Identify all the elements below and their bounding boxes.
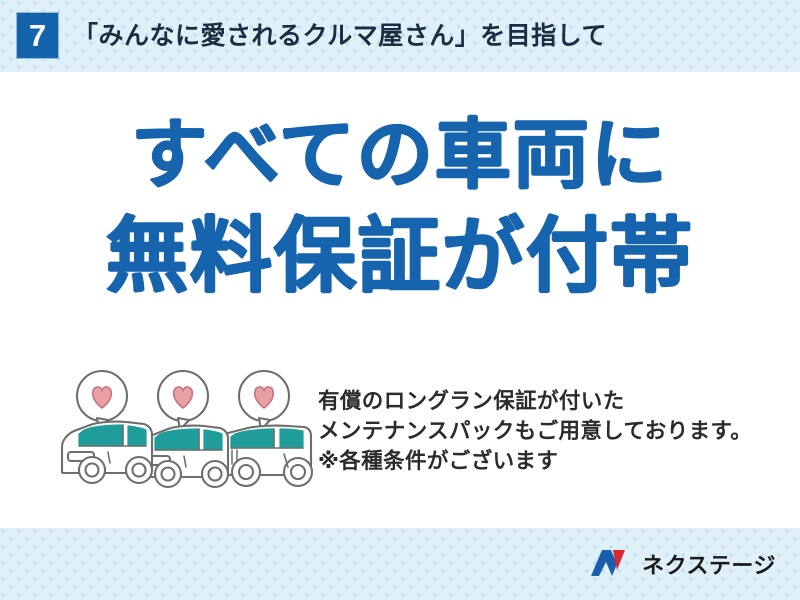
nextage-n-logo-icon: [589, 549, 633, 582]
headline-line-1: すべての車両に: [0, 118, 800, 194]
header-badge-number: 7: [16, 12, 59, 59]
heart-bubble-right: [239, 371, 289, 430]
brand-logo: ネクステージ: [589, 549, 776, 582]
body-copy-block: 有償のロングラン保証が付いた メンテナンスパックもご用意しております。 ※各種条…: [318, 386, 778, 476]
banner-header: 7 「みんなに愛されるクルマ屋さん」を目指して: [0, 0, 800, 72]
body-copy-line-2: メンテナンスパックもご用意しております。: [318, 416, 778, 446]
header-title: 「みんなに愛されるクルマ屋さん」を目指して: [73, 16, 607, 56]
cars-and-hearts-illustration: [52, 368, 314, 496]
headline-line-2: 無料保証が付帯: [0, 216, 800, 298]
brand-logo-text: ネクステージ: [642, 555, 776, 577]
body-copy-line-3: ※各種条件がございます: [318, 446, 778, 476]
car-wagon-left: [62, 422, 152, 483]
headline-block: すべての車両に 無料保証が付帯: [0, 118, 800, 298]
body-copy-line-1: 有償のロングラン保証が付いた: [318, 386, 778, 416]
promo-banner: 7 「みんなに愛されるクルマ屋さん」を目指して すべての車両に 無料保証が付帯: [0, 0, 800, 600]
heart-bubble-center: [158, 371, 208, 430]
banner-footer: ネクステージ: [0, 528, 800, 600]
